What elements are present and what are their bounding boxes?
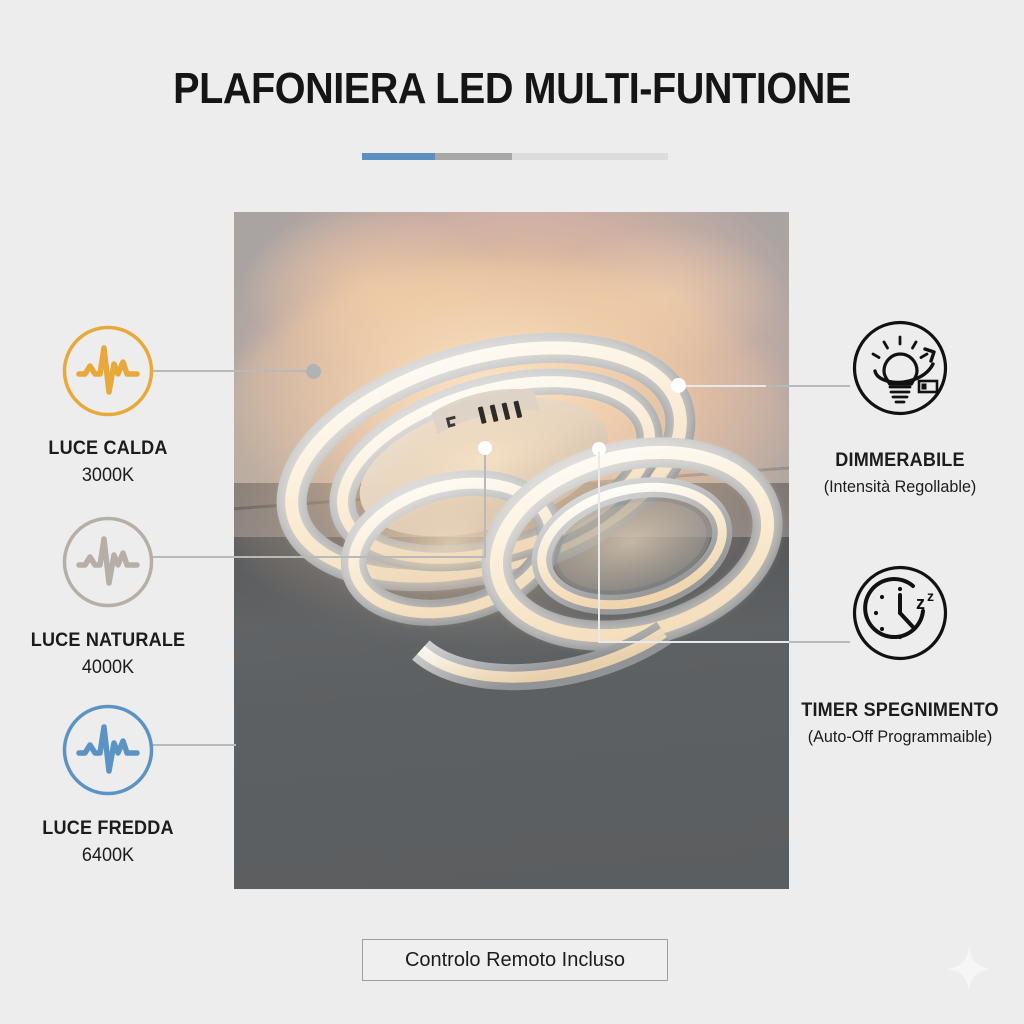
leader-line-timer-inner [598, 641, 790, 643]
led-ceiling-lamp-illustration [234, 212, 789, 889]
callout-dot-luce-naturale [478, 441, 492, 455]
waveform-icon-warm [61, 324, 155, 418]
leader-line-timer [789, 641, 850, 643]
svg-text:z: z [927, 588, 934, 604]
feature-value-luce-calda: 3000K [5, 465, 210, 487]
sleep-timer-clock-icon: z z [851, 564, 949, 662]
dimmable-bulb-icon [851, 319, 949, 417]
callout-dot-luce-calda [306, 364, 321, 379]
feature-label-luce-fredda: LUCE FREDDA [5, 818, 210, 840]
feature-sub-dimmerabile: (Intensità Regollable) [790, 477, 1010, 497]
page-title: PLAFONIERA LED MULTI-FUNTIONE [51, 64, 973, 114]
feature-value-luce-naturale: 4000K [5, 657, 210, 679]
feature-label-timer: TIMER SPEGNIMENTO [790, 700, 1010, 722]
leader-line-timer-riser [598, 452, 600, 642]
leader-line-luce-fredda [152, 744, 236, 746]
leader-line-luce-naturale-riser [484, 452, 486, 558]
svg-text:z: z [916, 593, 925, 613]
callout-dot-dimmerabile [671, 378, 686, 393]
remote-control-badge[interactable]: Controlo Remoto Incluso [362, 939, 668, 981]
feature-label-luce-calda: LUCE CALDA [5, 438, 210, 460]
leader-line-luce-calda [152, 370, 314, 372]
leader-line-dimmerabile-inner [686, 385, 766, 387]
leader-line-dimmerabile [766, 385, 850, 387]
feature-value-luce-fredda: 6400K [5, 845, 210, 867]
feature-label-dimmerabile: DIMMERABILE [790, 450, 1010, 472]
divider-segment-light [512, 153, 668, 160]
waveform-icon-cold [61, 703, 155, 797]
waveform-icon-natural [61, 515, 155, 609]
product-photo [234, 212, 789, 889]
sparkle-icon [943, 943, 995, 995]
leader-line-luce-naturale [152, 556, 486, 558]
feature-label-luce-naturale: LUCE NATURALE [5, 630, 210, 652]
divider-segment-blue [362, 153, 435, 160]
divider-segment-gray [435, 153, 512, 160]
remote-control-label: Controlo Remoto Incluso [405, 949, 625, 972]
feature-sub-timer: (Auto-Off Programmaible) [790, 727, 1010, 747]
infographic-canvas: PLAFONIERA LED MULTI-FUNTIONE [0, 0, 1024, 1024]
title-divider-bar [362, 153, 668, 160]
